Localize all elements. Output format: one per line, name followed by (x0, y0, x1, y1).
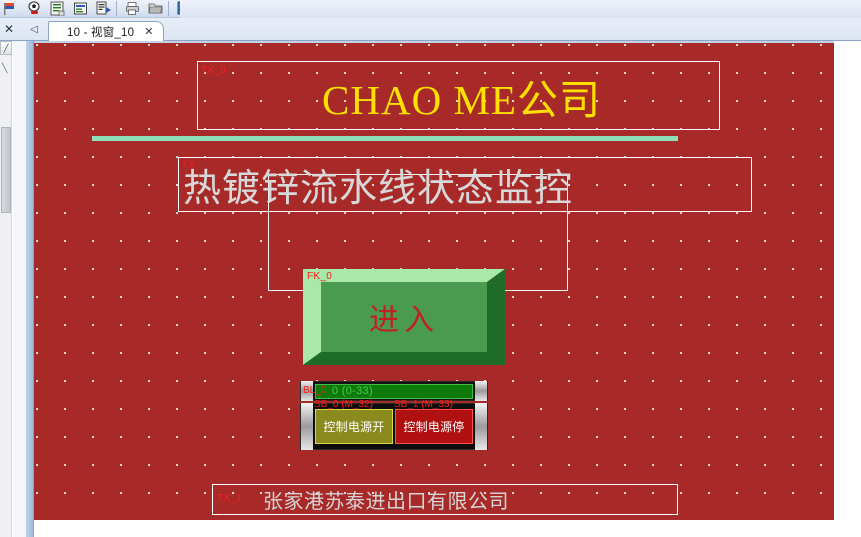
form-icon[interactable] (69, 0, 92, 17)
control-button-tray: SB_0 (M_32) 控制电源开 SB_1 (M_33) 控制电源停 (300, 403, 488, 450)
bar-right-cap (475, 381, 487, 401)
power-on-label: 控制电源开 (323, 418, 384, 435)
button-bevel-left (303, 269, 321, 365)
tab-label: 10 - 视窗_10 (67, 24, 134, 40)
canvas-top-edge (34, 41, 834, 43)
power-stop-label: 控制电源停 (403, 418, 464, 435)
enter-button-face: 进入 (321, 282, 487, 352)
footer-object-tag: TX_1 (217, 493, 242, 504)
bar-object-tag: BL_0 (303, 385, 326, 396)
button-bevel-right (487, 269, 505, 365)
tab-prev-arrow-icon[interactable]: ◁ (26, 22, 42, 36)
canvas-viewport: TX_0 CHAO ME公司 TX 热镀锌流水线状态监控 进入 FK_0 (34, 41, 834, 520)
title-underline-bar (92, 136, 678, 141)
power-stop-object-tag: SB_1 (M_33) (394, 399, 453, 410)
hmi-canvas[interactable]: TX_0 CHAO ME公司 TX 热镀锌流水线状态监控 进入 FK_0 (34, 41, 834, 520)
left-inner-rail-fill (13, 41, 26, 537)
toolbar-filler (180, 0, 861, 18)
footer-textbox[interactable]: TX_1 张家港苏泰进出口有限公司 (212, 484, 678, 515)
tray-inner: SB_0 (M_32) 控制电源开 SB_1 (M_33) 控制电源停 (313, 403, 475, 450)
bar-fill: 0 (0-33) (315, 384, 473, 399)
left-inner-rail (13, 41, 26, 537)
close-all-tabs-icon[interactable]: ✕ (2, 21, 16, 36)
title-textbox[interactable]: TX_0 CHAO ME公司 (197, 61, 720, 130)
subtitle-textbox[interactable]: TX 热镀锌流水线状态监控 (178, 157, 752, 212)
button-bevel-bottom (303, 352, 505, 365)
tray-right-cap (475, 403, 487, 450)
power-on-object-tag: SB_0 (M_32) (314, 399, 373, 410)
left-outer-rail: ╱ ╲ (0, 41, 12, 537)
tab-strip: ✕ ◁ 10 - 视窗_10 ✕ (0, 18, 861, 41)
subtitle-text: 热镀锌流水线状态监控 (179, 157, 573, 212)
subtitle-object-tag: TX (182, 160, 195, 171)
canvas-right-margin (834, 41, 861, 520)
enter-button-object-tag: FK_0 (307, 271, 332, 282)
rail-resize-arrow-icon[interactable]: ╲ (2, 63, 7, 74)
button-bevel-top (303, 269, 505, 282)
tab-view-10[interactable]: 10 - 视窗_10 ✕ (48, 21, 164, 41)
power-stop-button[interactable]: SB_1 (M_33) 控制电源停 (395, 409, 473, 444)
flag-icon[interactable] (0, 0, 23, 17)
soccer-ball-icon[interactable] (23, 0, 46, 17)
status-bar-widget[interactable]: 0 (0-33) BL_0 (300, 381, 488, 401)
application-window: ✕ ◁ 10 - 视窗_10 ✕ ╱ ╲ TX_0 CHAO ME公司 (0, 0, 861, 537)
folder-open-icon[interactable] (144, 0, 167, 17)
rail-scroll-thumb[interactable] (1, 127, 11, 213)
power-on-button[interactable]: SB_0 (M_32) 控制电源开 (315, 409, 393, 444)
title-object-tag: TX_0 (201, 65, 226, 76)
tray-left-cap (301, 403, 313, 450)
toolbar-separator-2 (168, 1, 172, 16)
rail-collapse-button[interactable]: ╱ (0, 41, 12, 55)
print-icon[interactable] (121, 0, 144, 17)
canvas-bottom-margin (34, 520, 861, 537)
toolbar-separator (116, 1, 120, 16)
enter-button-label: 进入 (369, 295, 439, 339)
canvas-vertical-scrollbar[interactable] (26, 41, 34, 537)
tab-close-icon[interactable]: ✕ (144, 25, 153, 38)
script-icon[interactable] (92, 0, 115, 17)
report-icon[interactable] (46, 0, 69, 17)
footer-text: 张家港苏泰进出口有限公司 (213, 485, 509, 514)
enter-button[interactable]: 进入 FK_0 (303, 269, 505, 365)
title-text: CHAO ME公司 (198, 66, 719, 126)
